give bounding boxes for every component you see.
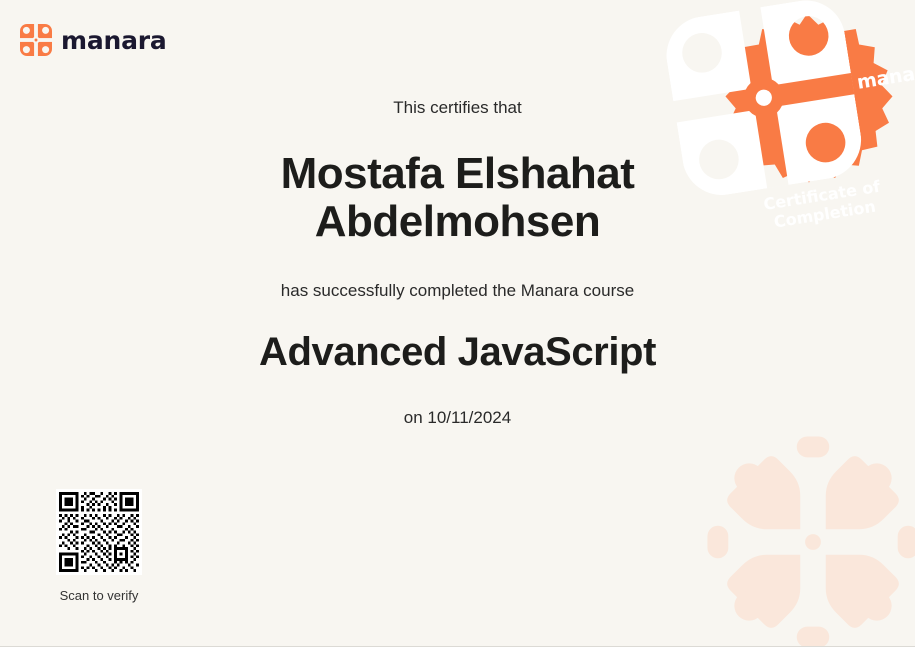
recipient-name: Mostafa Elshahat Abdelmohsen [138,150,778,247]
seal-starburst-icon [717,12,897,192]
qr-code-icon[interactable] [56,489,142,575]
brand-wordmark: manara [61,28,167,53]
completion-date: on 10/11/2024 [404,406,511,430]
manara-pattern-watermark-icon [697,426,915,647]
qr-caption: Scan to verify [60,588,139,604]
certificate-canvas: manara Official [0,0,915,647]
official-seal-badge: Official [717,12,897,192]
verification-block: Scan to verify [56,489,142,604]
course-title: Advanced JavaScript [259,330,656,374]
brand-logo: manara [20,24,167,56]
manara-logo-icon [20,24,52,56]
seal-official-label: Official [755,0,824,3]
completion-subline: has successfully completed the Manara co… [281,279,634,303]
certifies-lead-text: This certifies that [393,96,522,120]
